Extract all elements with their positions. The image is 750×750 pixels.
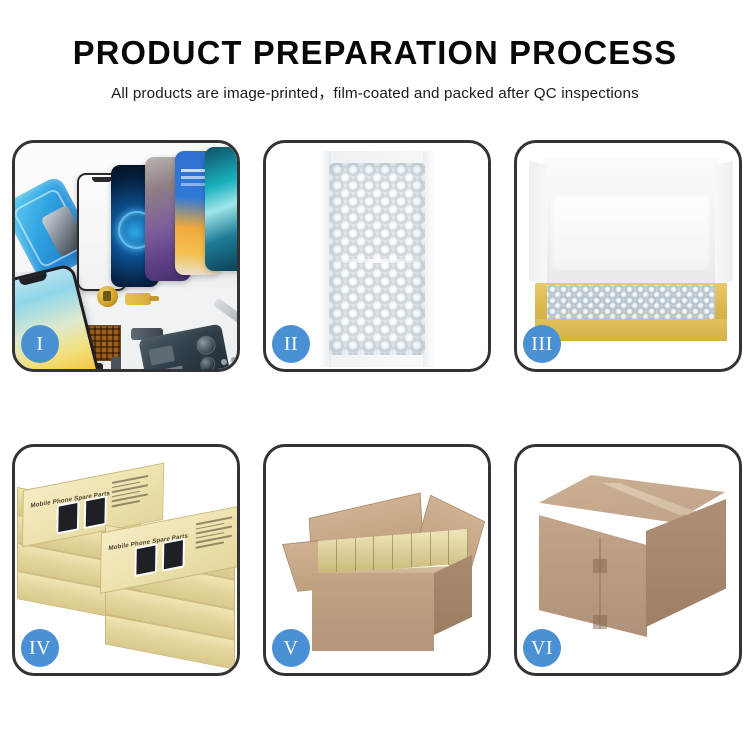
- board-print-icon: [155, 366, 183, 369]
- camera-lens-secondary-icon: [199, 355, 217, 369]
- vibration-motor-icon: [97, 286, 118, 307]
- phone-thumbnail-icon: [84, 495, 107, 529]
- process-step-panel-4: Mobile Phone Spare Parts: [12, 444, 240, 676]
- notch-icon: [92, 177, 112, 182]
- carton-front-panel: [312, 573, 434, 651]
- page-title: PRODUCT PREPARATION PROCESS: [4, 36, 747, 71]
- bubble-wrap-bag-icon: [320, 151, 434, 367]
- phone-teal-display-icon: [205, 147, 237, 271]
- process-step-panel-6: VI: [514, 444, 742, 676]
- charging-port-icon: [111, 357, 121, 369]
- camera-lens-icon: [195, 334, 217, 356]
- box-spec-lines: [195, 515, 237, 552]
- step-badge-6: VI: [523, 629, 561, 667]
- chip-icon: [148, 345, 175, 365]
- header: PRODUCT PREPARATION PROCESS All products…: [0, 0, 750, 103]
- step-badge-2: II: [272, 325, 310, 363]
- phone-thumbnail-icon: [162, 538, 185, 572]
- step-badge-4: IV: [21, 629, 59, 667]
- box-spec-lines: [111, 474, 155, 511]
- open-carton-icon: [284, 487, 474, 659]
- flex-cable-gold-icon: [125, 293, 151, 305]
- sealed-carton-icon: [539, 475, 729, 651]
- process-step-panel-5: V: [263, 444, 491, 676]
- process-step-panel-2: II: [263, 140, 491, 372]
- step-badge-5: V: [272, 629, 310, 667]
- process-step-grid: I II: [12, 140, 742, 676]
- foam-sheet-icon: [551, 195, 711, 271]
- step-badge-3: III: [523, 325, 561, 363]
- process-step-panel-1: I: [12, 140, 240, 372]
- process-step-panel-3: III: [514, 140, 742, 372]
- mailer-box-front-panel: [535, 319, 727, 341]
- bubble-wrapped-contents-icon: [547, 285, 715, 319]
- phone-thumbnail-icon: [134, 543, 157, 577]
- phone-thumbnail-icon: [56, 501, 79, 535]
- carton-tab-lower: [593, 615, 607, 629]
- carton-tab-upper: [593, 559, 607, 573]
- notch-icon: [19, 273, 48, 287]
- screws-icon: [221, 357, 237, 369]
- product-preparation-infographic: PRODUCT PREPARATION PROCESS All products…: [0, 0, 750, 750]
- page-subtitle: All products are image-printed，film-coat…: [0, 81, 750, 103]
- bag-seam: [332, 259, 424, 263]
- step-badge-1: I: [21, 325, 59, 363]
